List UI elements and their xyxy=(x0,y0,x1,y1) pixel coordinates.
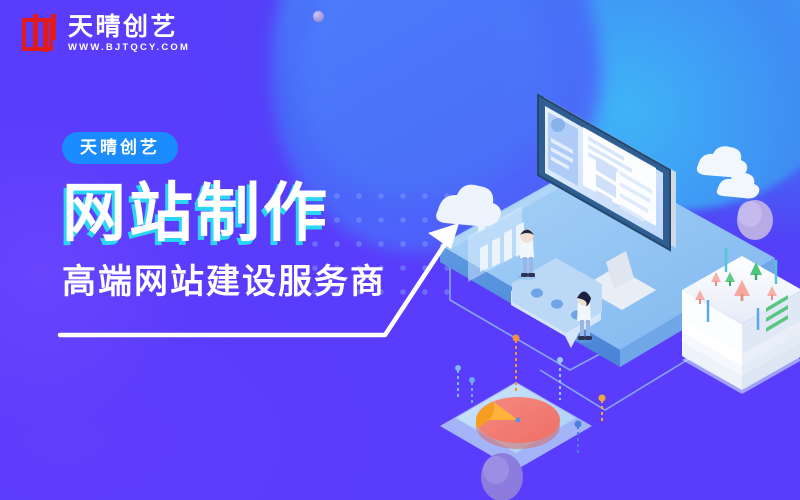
cloud-icon-left xyxy=(436,185,501,227)
hero-copy: 天晴创艺 网站制作 高端网站建设服务商 xyxy=(62,132,386,301)
brand-logo[interactable]: 天晴创艺 WWW.BJTQCY.COM xyxy=(22,14,190,54)
hero-banner: 天晴创艺 WWW.BJTQCY.COM 天晴创艺 网站制作 高端网站建设服务商 xyxy=(0,0,800,500)
hero-subtitle: 高端网站建设服务商 xyxy=(62,265,386,301)
isometric-illustration xyxy=(420,40,800,500)
brand-logo-text: 天晴创艺 WWW.BJTQCY.COM xyxy=(68,15,190,53)
hero-badge: 天晴创艺 xyxy=(62,132,178,164)
brand-website: WWW.BJTQCY.COM xyxy=(68,43,190,53)
page-title: 网站制作 xyxy=(62,181,386,246)
tqcy-monogram-icon xyxy=(22,14,59,54)
pie-chart-platform xyxy=(440,382,592,470)
brand-name: 天晴创艺 xyxy=(68,15,190,40)
decorative-sphere-small xyxy=(313,11,324,22)
